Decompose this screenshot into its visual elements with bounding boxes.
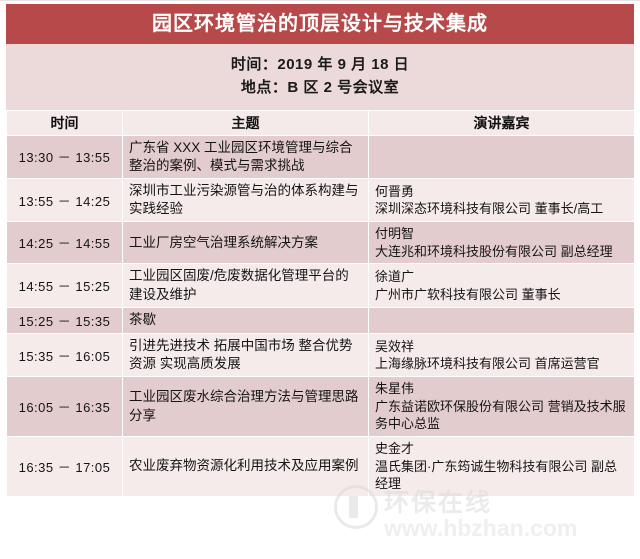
event-date: 时间：2019 年 9 月 18 日 [6,53,634,76]
cell-guest: 何晋勇深圳深态环境科技有限公司 董事长/高工 [369,178,635,221]
cell-topic: 深圳市工业污染源管与治的体系构建与实践经验 [123,178,369,221]
page-root: 园区环境管治的顶层设计与技术集成 时间：2019 年 9 月 18 日 地点：B… [0,0,640,559]
cell-topic: 农业废弃物资源化利用技术及应用案例 [123,436,369,496]
cell-guest: 付明智大连兆和环境科技股份有限公司 副总经理 [369,222,635,264]
cell-time: 16:05 － 16:35 [7,377,123,437]
cell-topic: 工业厂房空气治理系统解决方案 [123,222,369,264]
cell-guest: 徐道广广州市广软科技有限公司 董事长 [369,264,635,307]
guest-organization: 温氏集团·广东筠诚生物科技有限公司 副总经理 [375,458,628,493]
table-row: 15:25 － 15:35茶歇 [7,307,635,333]
guest-name: 何晋勇 [375,183,628,201]
guest-organization: 广州市广软科技有限公司 董事长 [375,286,628,304]
agenda-table-body: 13:30 － 13:55广东省 XXX 工业园区环境管理与综合整治的案例、模式… [7,135,635,496]
cell-time: 15:35 － 16:05 [7,333,123,376]
agenda-table: 时间 主题 演讲嘉宾 13:30 － 13:55广东省 XXX 工业园区环境管理… [6,110,635,497]
table-row: 14:55 － 15:25工业园区固废/危废数据化管理平台的建设及维护徐道广广州… [7,264,635,307]
cell-time: 14:25 － 14:55 [7,222,123,264]
cell-guest: 史金才温氏集团·广东筠诚生物科技有限公司 副总经理 [369,436,635,496]
cell-time: 15:25 － 15:35 [7,307,123,333]
cell-guest [369,135,635,178]
guest-organization: 上海缘脉环境科技有限公司 首席运营官 [375,355,628,373]
cell-time: 13:55 － 14:25 [7,178,123,221]
cell-time: 13:30 － 13:55 [7,135,123,178]
column-header-time: 时间 [7,110,123,135]
cell-topic: 广东省 XXX 工业园区环境管理与综合整治的案例、模式与需求挑战 [123,135,369,178]
cell-time: 14:55 － 15:25 [7,264,123,307]
agenda-sheet: 园区环境管治的顶层设计与技术集成 时间：2019 年 9 月 18 日 地点：B… [6,4,634,555]
guest-name: 徐道广 [375,268,628,286]
table-row: 13:30 － 13:55广东省 XXX 工业园区环境管理与综合整治的案例、模式… [7,135,635,178]
guest-organization: 广东益诺欧环保股份有限公司 营销及技术服务中心总监 [375,398,628,433]
table-row: 13:55 － 14:25深圳市工业污染源管与治的体系构建与实践经验何晋勇深圳深… [7,178,635,221]
event-info-band: 时间：2019 年 9 月 18 日 地点：B 区 2 号会议室 [6,44,634,110]
cell-topic: 工业园区固废/危废数据化管理平台的建设及维护 [123,264,369,307]
guest-name: 付明智 [375,225,628,243]
agenda-table-head: 时间 主题 演讲嘉宾 [7,110,635,135]
table-row: 16:05 － 16:35工业园区废水综合治理方法与管理思路分享朱星伟广东益诺欧… [7,377,635,437]
guest-organization: 深圳深态环境科技有限公司 董事长/高工 [375,200,628,218]
table-row: 15:35 － 16:05引进先进技术 拓展中国市场 整合优势资源 实现高质发展… [7,333,635,376]
table-header-row: 时间 主题 演讲嘉宾 [7,110,635,135]
event-place: 地点：B 区 2 号会议室 [6,76,634,99]
guest-name: 吴效祥 [375,338,628,356]
cell-topic: 引进先进技术 拓展中国市场 整合优势资源 实现高质发展 [123,333,369,376]
table-row: 16:35 － 17:05农业废弃物资源化利用技术及应用案例史金才温氏集团·广东… [7,436,635,496]
agenda-title-bar: 园区环境管治的顶层设计与技术集成 [6,4,634,44]
column-header-topic: 主题 [123,110,369,135]
cell-topic: 茶歇 [123,307,369,333]
cell-guest: 朱星伟广东益诺欧环保股份有限公司 营销及技术服务中心总监 [369,377,635,437]
guest-name: 朱星伟 [375,380,628,398]
cell-guest: 吴效祥上海缘脉环境科技有限公司 首席运营官 [369,333,635,376]
cell-time: 16:35 － 17:05 [7,436,123,496]
cell-topic: 工业园区废水综合治理方法与管理思路分享 [123,377,369,437]
page-title: 园区环境管治的顶层设计与技术集成 [152,14,488,34]
guest-name: 史金才 [375,440,628,458]
cell-guest [369,307,635,333]
table-row: 14:25 － 14:55工业厂房空气治理系统解决方案付明智大连兆和环境科技股份… [7,222,635,264]
column-header-guest: 演讲嘉宾 [369,110,635,135]
guest-organization: 大连兆和环境科技股份有限公司 副总经理 [375,243,628,261]
